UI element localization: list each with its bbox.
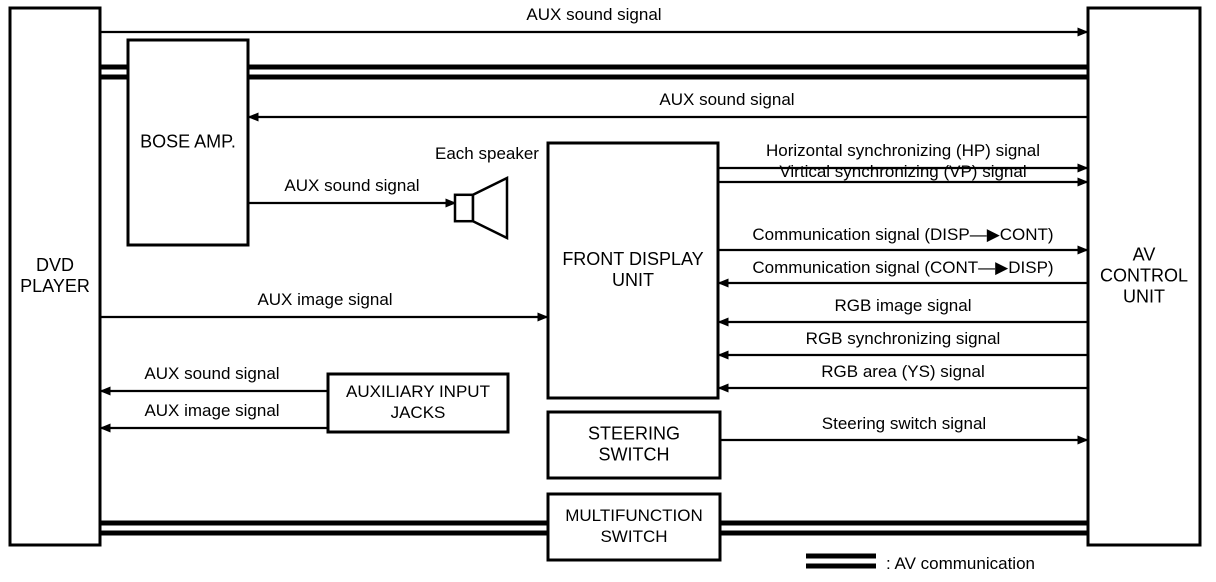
legend-group: : AV communication [806,554,1035,573]
av-control-unit-block-label-line-2: UNIT [1123,286,1165,306]
multifunction-switch-block-label-line-0: MULTIFUNCTION [565,506,703,525]
signal-label-aux-image-from-jacks: AUX image signal [144,401,279,420]
signal-virtical-sync: Virtical synchronizing (VP) signal [718,162,1088,182]
signal-label-aux-sound-from-jacks: AUX sound signal [144,364,279,383]
signal-steering-switch-signal: Steering switch signal [720,414,1088,440]
signal-label-rgb-image: RGB image signal [834,296,971,315]
signal-aux-image-to-display: AUX image signal [100,290,548,317]
signal-aux-image-from-jacks: AUX image signal [100,401,328,428]
signal-label-aux-sound-to-bose: AUX sound signal [659,90,794,109]
signal-aux-sound-top: AUX sound signal [100,5,1088,32]
signal-label-rgb-area-ys: RGB area (YS) signal [821,362,984,381]
front-display-unit-block-label-line-1: UNIT [612,270,654,290]
signal-rgb-sync: RGB synchronizing signal [718,329,1088,355]
steering-switch-block-label-line-1: SWITCH [599,444,670,464]
steering-switch-block: STEERINGSWITCH [548,412,720,478]
diagram-canvas: AUX sound signalAUX sound signalAUX soun… [0,0,1216,582]
av-control-unit-block-label-line-1: CONTROL [1100,265,1188,285]
av-communication-bus-bottom-left [100,523,548,533]
each-speaker-icon-group: Each speaker [435,144,539,238]
signal-label-aux-sound-to-speaker: AUX sound signal [284,176,419,195]
signal-label-rgb-sync: RGB synchronizing signal [806,329,1001,348]
steering-switch-block-label-line-0: STEERING [588,423,680,443]
auxiliary-input-jacks-block-label-line-1: JACKS [391,403,446,422]
av-control-unit-block-label-line-0: AV [1133,244,1156,264]
av-communication-bus-top-left [100,67,128,77]
each-speaker-icon-label: Each speaker [435,144,539,163]
signal-rgb-image: RGB image signal [718,296,1088,322]
front-display-unit-block: FRONT DISPLAYUNIT [548,143,718,398]
speaker-group: Each speaker [435,144,539,238]
signal-label-steering-switch-signal: Steering switch signal [822,414,986,433]
multifunction-switch-block-label-line-1: SWITCH [600,527,667,546]
dvd-player-block-label-line-0: DVD [36,255,74,275]
signal-label-aux-image-to-display: AUX image signal [257,290,392,309]
auxiliary-input-jacks-block: AUXILIARY INPUTJACKS [328,374,508,432]
signal-comm-cont-to-disp: Communication signal (CONT—▶DISP) [718,258,1088,283]
signal-label-horizontal-sync: Horizontal synchronizing (HP) signal [766,141,1040,160]
signal-label-virtical-sync: Virtical synchronizing (VP) signal [779,162,1026,181]
av-system-diagram: AUX sound signalAUX sound signalAUX soun… [0,0,1216,582]
bose-amp-block: BOSE AMP. [128,40,248,245]
front-display-unit-block-label-line-0: FRONT DISPLAY [562,249,703,269]
each-speaker-icon-cone [473,178,507,238]
signal-aux-sound-from-jacks: AUX sound signal [100,364,328,391]
legend-av-communication: : AV communication [806,554,1035,573]
signal-aux-sound-to-speaker: AUX sound signal [248,176,456,203]
signal-aux-sound-to-bose: AUX sound signal [248,90,1088,117]
signal-rgb-area-ys: RGB area (YS) signal [718,362,1088,388]
av-communication-bus-top-right [248,67,1088,77]
signal-label-comm-disp-to-cont: Communication signal (DISP—▶CONT) [752,225,1053,244]
signal-comm-disp-to-cont: Communication signal (DISP—▶CONT) [718,225,1088,250]
each-speaker-icon-magnet [455,195,473,221]
multifunction-switch-block: MULTIFUNCTIONSWITCH [548,494,720,560]
legend-av-communication-text: : AV communication [886,554,1035,573]
av-control-unit-block: AVCONTROLUNIT [1088,8,1200,545]
signal-label-aux-sound-top: AUX sound signal [526,5,661,24]
av-communication-bus-bottom-right [720,523,1088,533]
bose-amp-block-label-line-0: BOSE AMP. [140,131,236,151]
dvd-player-block-label-line-1: PLAYER [20,276,90,296]
signal-label-comm-cont-to-disp: Communication signal (CONT—▶DISP) [752,258,1053,277]
dvd-player-block: DVDPLAYER [10,8,100,545]
auxiliary-input-jacks-block-label-line-0: AUXILIARY INPUT [346,382,490,401]
